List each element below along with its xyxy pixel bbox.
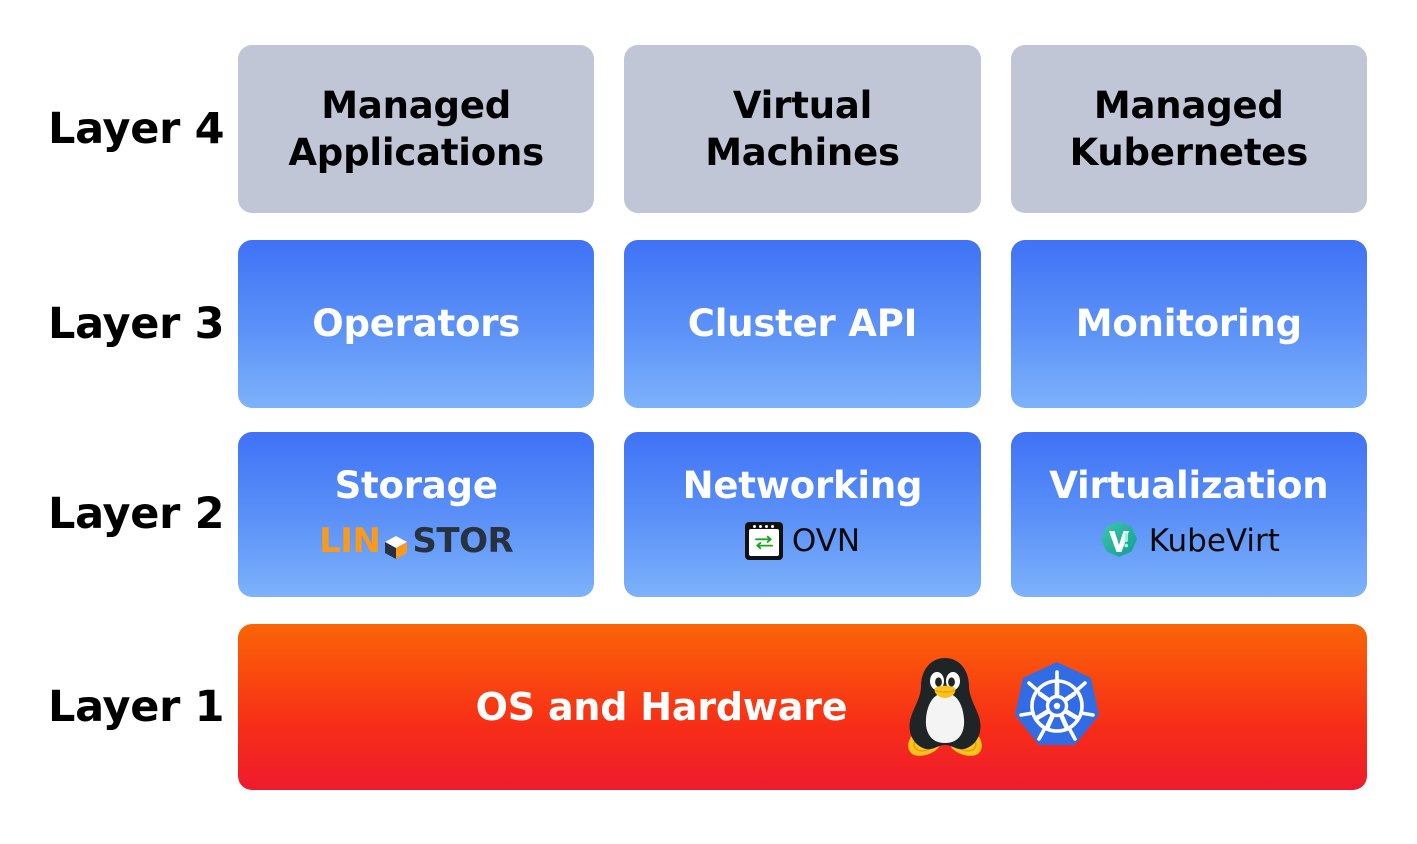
layer-1-logos xyxy=(899,655,1105,759)
box-title: Managed Applications xyxy=(288,82,544,177)
kubevirt-icon xyxy=(1098,520,1140,562)
kubevirt-label: KubeVirt xyxy=(1149,523,1280,559)
ovn-screen xyxy=(749,529,779,556)
linstor-lin-text: LIN xyxy=(319,521,380,561)
box-operators[interactable]: Operators xyxy=(238,240,594,408)
box-networking[interactable]: Networking xyxy=(624,432,980,597)
box-title: Networking xyxy=(683,466,923,507)
layer-label-3: Layer 3 xyxy=(0,240,238,408)
box-virtual-machines[interactable]: Virtual Machines xyxy=(624,45,980,213)
box-title: Monitoring xyxy=(1076,304,1302,345)
layer-1-boxes: OS and Hardware xyxy=(238,624,1417,790)
layer-row-2: Layer 2 Storage LIN S xyxy=(0,432,1417,597)
box-managed-applications[interactable]: Managed Applications xyxy=(238,45,594,213)
box-title: OS and Hardware xyxy=(476,685,848,729)
layer-label-2: Layer 2 xyxy=(0,432,238,597)
kubevirt-logo: KubeVirt xyxy=(1098,519,1280,563)
box-monitoring[interactable]: Monitoring xyxy=(1011,240,1367,408)
layer-4-boxes: Managed Applications Virtual Machines Ma… xyxy=(238,45,1417,213)
layer-row-4: Layer 4 Managed Applications Virtual Mac… xyxy=(0,45,1417,213)
box-managed-kubernetes[interactable]: Managed Kubernetes xyxy=(1011,45,1367,213)
box-virtualization[interactable]: Virtualization xyxy=(1011,432,1367,597)
box-storage[interactable]: Storage LIN STOR xyxy=(238,432,594,597)
layer-row-3: Layer 3 Operators Cluster API Monitoring xyxy=(0,240,1417,408)
layer-label-4: Layer 4 xyxy=(0,45,238,213)
box-title: Storage xyxy=(335,466,498,507)
box-title: Virtualization xyxy=(1049,466,1328,507)
layer-label-1: Layer 1 xyxy=(0,624,238,790)
ovn-logo: OVN xyxy=(745,519,860,563)
tux-linux-icon xyxy=(899,655,991,759)
box-cluster-api[interactable]: Cluster API xyxy=(624,240,980,408)
linstor-logo: LIN STOR xyxy=(319,519,513,563)
box-title: Operators xyxy=(312,304,520,345)
cube-icon xyxy=(383,529,409,555)
layer-row-1: Layer 1 OS and Hardware xyxy=(0,624,1417,790)
box-os-and-hardware[interactable]: OS and Hardware xyxy=(238,624,1367,790)
architecture-stack-diagram: Layer 4 Managed Applications Virtual Mac… xyxy=(0,0,1417,844)
layer-2-boxes: Storage LIN STOR xyxy=(238,432,1417,597)
kubernetes-icon xyxy=(1009,659,1105,755)
layer-3-boxes: Operators Cluster API Monitoring xyxy=(238,240,1417,408)
box-title: Managed Kubernetes xyxy=(1070,82,1308,177)
box-title: Virtual Machines xyxy=(705,82,900,177)
linstor-wordmark: LIN STOR xyxy=(319,521,513,561)
linstor-stor-text: STOR xyxy=(412,521,513,561)
ovn-switch-icon xyxy=(745,522,783,560)
box-title: Cluster API xyxy=(688,304,917,345)
ovn-dots xyxy=(745,525,783,528)
ovn-label: OVN xyxy=(792,523,860,559)
